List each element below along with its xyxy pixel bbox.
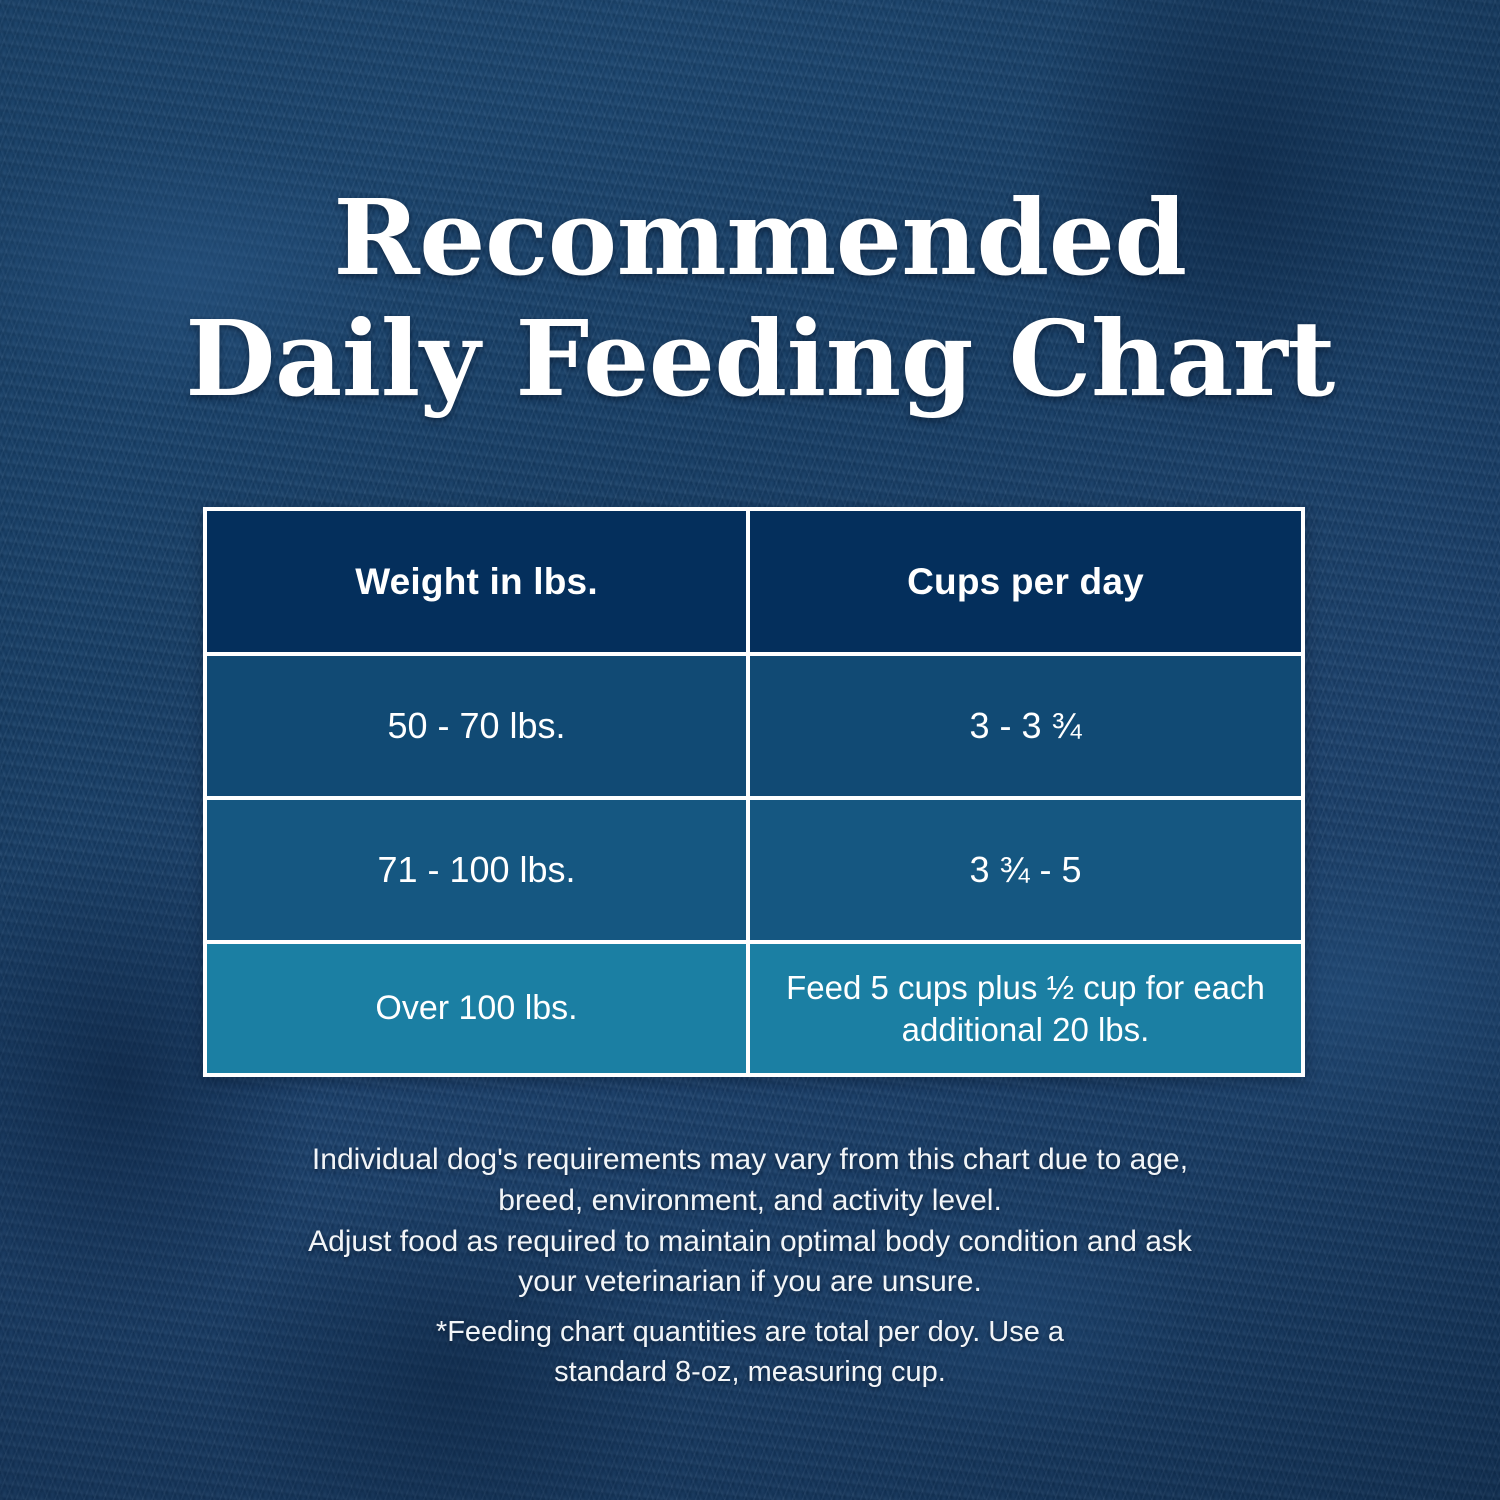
footnote-line-2: standard 8-oz, measuring cup.	[220, 1352, 1280, 1392]
column-header-weight: Weight in lbs.	[207, 511, 750, 652]
footnote-line-1: *Feeding chart quantities are total per …	[220, 1312, 1280, 1352]
column-header-cups: Cups per day	[750, 511, 1301, 652]
cell-cups-3-line-1: Feed 5 cups plus ½ cup for	[786, 969, 1184, 1006]
cell-weight-range-1: 50 - 70 lbs.	[207, 656, 750, 796]
cell-cups-3: Feed 5 cups plus ½ cup for each addition…	[750, 944, 1301, 1073]
page-title-line-2: Daily Feeding Chart	[130, 299, 1390, 420]
table-row: 71 - 100 lbs. 3 ¾ - 5	[207, 796, 1301, 940]
cell-cups-2: 3 ¾ - 5	[750, 800, 1301, 940]
cell-cups-1: 3 - 3 ¾	[750, 656, 1301, 796]
cell-weight-range-3: Over 100 lbs.	[207, 944, 750, 1073]
disclaimer-line-3: Adjust food as required to maintain opti…	[220, 1222, 1280, 1263]
cell-weight-range-2: 71 - 100 lbs.	[207, 800, 750, 940]
table-row: 50 - 70 lbs. 3 - 3 ¾	[207, 652, 1301, 796]
page-title: Recommended Daily Feeding Chart	[130, 178, 1390, 419]
disclaimer-note: Individual dog's requirements may vary f…	[220, 1140, 1280, 1303]
feeding-table: Weight in lbs. Cups per day 50 - 70 lbs.…	[203, 507, 1305, 1077]
feeding-chart-poster: Recommended Daily Feeding Chart Weight i…	[0, 0, 1500, 1500]
disclaimer-line-4: your veterinarian if you are unsure.	[220, 1262, 1280, 1303]
footnote: *Feeding chart quantities are total per …	[220, 1312, 1280, 1392]
table-row: Over 100 lbs. Feed 5 cups plus ½ cup for…	[207, 940, 1301, 1073]
disclaimer-line-1: Individual dog's requirements may vary f…	[220, 1140, 1280, 1181]
table-header-row: Weight in lbs. Cups per day	[207, 511, 1301, 652]
page-title-line-1: Recommended	[130, 178, 1390, 299]
disclaimer-line-2: breed, environment, and activity level.	[220, 1181, 1280, 1222]
